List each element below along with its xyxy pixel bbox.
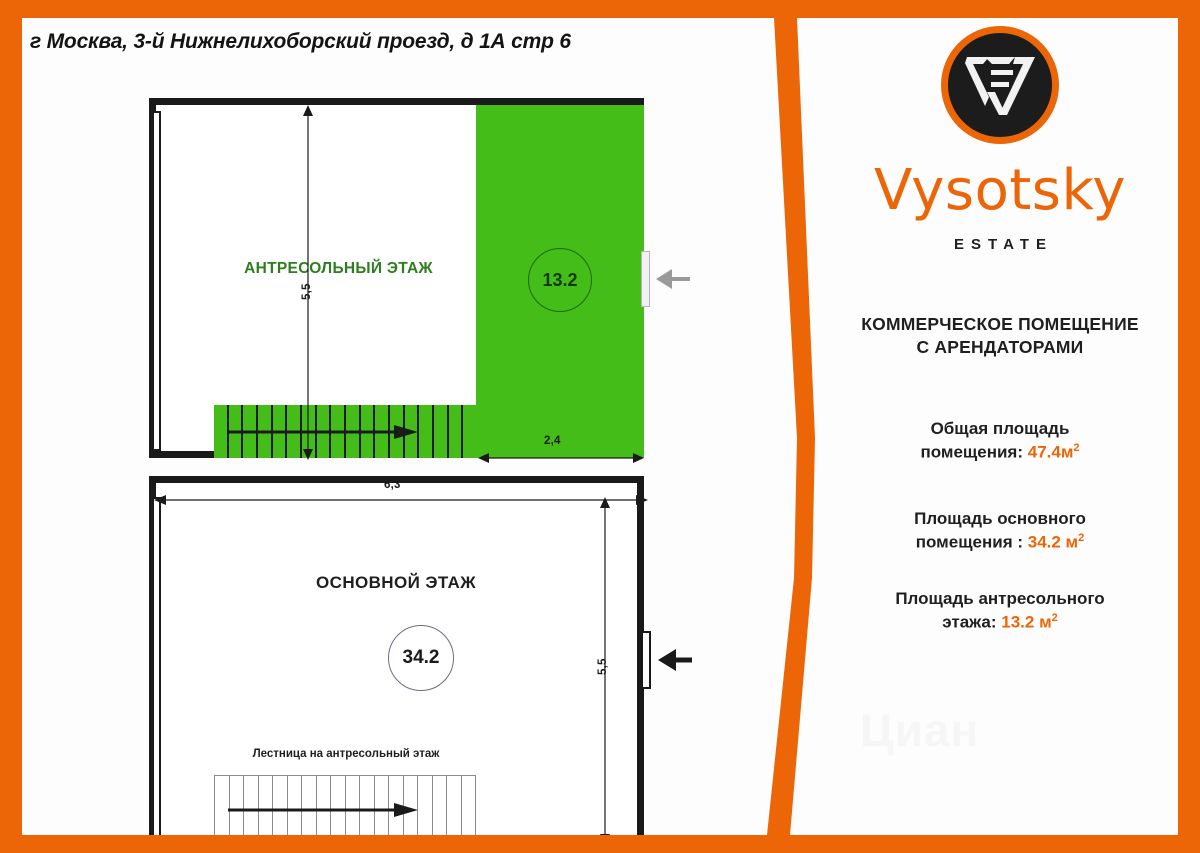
- main-area-label-1: Площадь основного: [914, 509, 1086, 528]
- main-width-dimension: 6,3: [384, 479, 401, 491]
- mezzanine-area-value: 13.2 м: [1001, 613, 1051, 632]
- staircase-caption: Лестница на антресольный этаж: [196, 748, 496, 760]
- stair-step: [405, 405, 420, 458]
- stair-step: [230, 776, 245, 835]
- logo-wrapper: [822, 26, 1178, 144]
- main-area-badge: 34.2: [388, 625, 454, 691]
- dimension-line-horizontal: [154, 495, 648, 505]
- stair-step: [302, 776, 317, 835]
- stair-step: [259, 776, 274, 835]
- brand-subtitle: ESTATE: [822, 236, 1178, 253]
- stair-step: [418, 776, 433, 835]
- window-icon: [152, 111, 161, 451]
- entrance-door-lower: [641, 631, 651, 689]
- stair-step: [390, 405, 405, 458]
- mezzanine-area-label-2: этажа:: [942, 613, 996, 632]
- entrance-arrow-icon: [656, 268, 690, 290]
- main-height-dimension: 5,5: [597, 658, 609, 675]
- stair-step: [433, 776, 448, 835]
- stair-step: [273, 776, 288, 835]
- total-area-label-1: Общая площадь: [931, 419, 1070, 438]
- total-area-unit: 2: [1073, 442, 1079, 454]
- mezzanine-area-fact: Площадь антресольного этажа: 13.2 м2: [832, 588, 1168, 635]
- stair-step: [215, 776, 230, 835]
- watermark: Циан: [860, 703, 979, 757]
- dimension-line-horizontal: [478, 453, 644, 463]
- mezzanine-area-unit: 2: [1052, 612, 1058, 624]
- brand-name: Vysotsky: [822, 158, 1178, 223]
- page-title: г Москва, 3-й Нижнелихоборский проезд, д…: [30, 30, 571, 54]
- stair-step: [346, 405, 361, 458]
- mezzanine-area-badge: 13.2: [528, 248, 592, 312]
- white-canvas: г Москва, 3-й Нижнелихоборский проезд, д…: [22, 18, 1178, 835]
- v-monogram-icon: [963, 51, 1037, 119]
- stair-step: [360, 776, 375, 835]
- main-staircase: [214, 775, 476, 835]
- main-floor-plan: ОСНОВНОЙ ЭТАЖ 34.2 Лестница на антресоль…: [134, 468, 694, 835]
- stair-step: [258, 405, 273, 458]
- headline: КОММЕРЧЕСКОЕ ПОМЕЩЕНИЕ С АРЕНДАТОРАМИ: [828, 313, 1172, 359]
- stair-step: [447, 776, 462, 835]
- stair-step: [331, 405, 346, 458]
- entrance-arrow-icon: [658, 649, 692, 671]
- stair-step: [287, 405, 302, 458]
- stair-step: [346, 776, 361, 835]
- window-icon: [152, 497, 161, 835]
- stair-step: [361, 405, 376, 458]
- main-area-value: 34.2 м: [1028, 533, 1078, 552]
- stair-step: [244, 776, 259, 835]
- vysotsky-v-monogram-logo: [941, 26, 1059, 144]
- stair-step: [462, 776, 476, 835]
- stair-step: [288, 776, 303, 835]
- total-area-value: 47.4м: [1028, 443, 1074, 462]
- total-area-label-2: помещения:: [920, 443, 1023, 462]
- mezzanine-floor-label: АНТРЕСОЛЬНЫЙ ЭТАЖ: [206, 260, 471, 278]
- main-area-label-2: помещения :: [916, 533, 1023, 552]
- stair-step: [317, 776, 332, 835]
- stair-step: [463, 405, 476, 458]
- main-area-unit: 2: [1078, 532, 1084, 544]
- stair-step: [229, 405, 244, 458]
- stair-step: [273, 405, 288, 458]
- stair-step: [375, 776, 390, 835]
- stair-step: [317, 405, 332, 458]
- mezzanine-staircase: [214, 405, 476, 458]
- main-area-fact: Площадь основного помещения : 34.2 м2: [832, 508, 1168, 555]
- total-area-fact: Общая площадь помещения: 47.4м2: [832, 418, 1168, 465]
- entrance-door-upper: [641, 251, 650, 307]
- stair-step: [331, 776, 346, 835]
- mezzanine-floor-plan: АНТРЕСОЛЬНЫЙ ЭТАЖ 13.2: [134, 80, 654, 470]
- stair-step: [404, 776, 419, 835]
- stair-step: [434, 405, 449, 458]
- mezzanine-room-outline: АНТРЕСОЛЬНЫЙ ЭТАЖ 13.2: [149, 98, 644, 458]
- mezzanine-width-dimension: 2,4: [544, 435, 561, 447]
- stair-step: [375, 405, 390, 458]
- stair-step: [389, 776, 404, 835]
- headline-line-1: КОММЕРЧЕСКОЕ ПОМЕЩЕНИЕ: [861, 314, 1138, 334]
- stair-step: [243, 405, 258, 458]
- floorplan-page: г Москва, 3-й Нижнелихоборский проезд, д…: [0, 0, 1200, 853]
- main-room-outline: ОСНОВНОЙ ЭТАЖ 34.2 Лестница на антресоль…: [149, 476, 644, 835]
- mezzanine-area-label-1: Площадь антресольного: [895, 589, 1104, 608]
- headline-line-2: С АРЕНДАТОРАМИ: [917, 337, 1084, 357]
- main-floor-label: ОСНОВНОЙ ЭТАЖ: [231, 573, 561, 593]
- mezzanine-height-dimension: 5,5: [301, 283, 313, 300]
- stair-step: [419, 405, 434, 458]
- stair-step: [449, 405, 464, 458]
- stair-step: [214, 405, 229, 458]
